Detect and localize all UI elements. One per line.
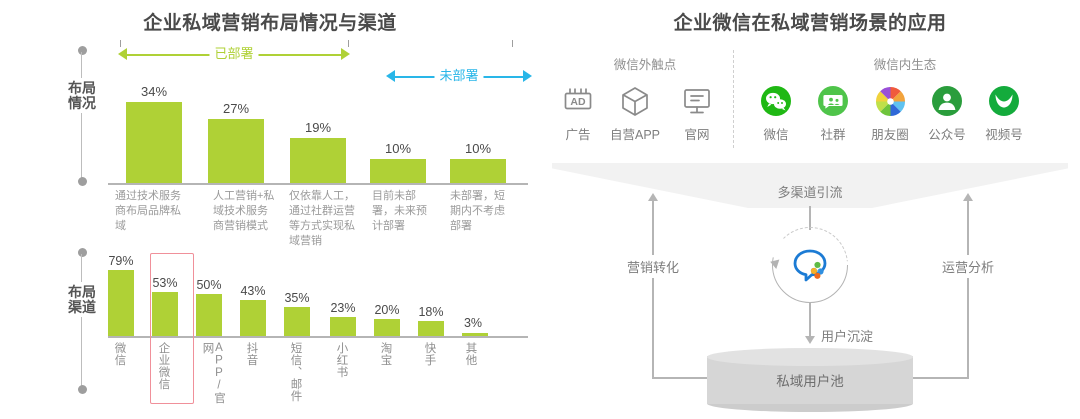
chart-baseline [108, 336, 528, 338]
chart-layout-status: 34% 27% 19% 10% 10% [108, 40, 528, 185]
left-panel-title: 企业私域营销布局情况与渠道 [0, 8, 540, 35]
bar-value-3: 43% [236, 284, 270, 298]
category-label-8: 其他 [464, 342, 476, 380]
category-label-6: 淘宝 [379, 342, 391, 380]
icon-label: 官网 [669, 124, 725, 143]
group-divider [733, 50, 734, 148]
icon-label: 朋友圈 [862, 124, 918, 143]
infographic-root: 企业私域营销布局情况与渠道 布局情况 布局渠道 已部署 未部署 [0, 0, 1080, 419]
private-user-pool: 私域用户池 [707, 348, 913, 411]
icon-cell-wechat[interactable]: 微信 [748, 82, 804, 143]
ad-billboard-icon: AD [550, 82, 606, 120]
right-flow-label: 运营分析 [939, 255, 997, 278]
connector-left-vertical [652, 200, 654, 378]
bar-7 [418, 321, 444, 336]
bar-value-4: 10% [450, 141, 506, 156]
connector-center-to-pool [809, 302, 811, 338]
center-cycle [772, 227, 848, 303]
icon-cell-self-app[interactable]: 自营APP [607, 82, 663, 143]
group-heading-outer: 微信外触点 [560, 54, 730, 73]
left-flow-label: 营销转化 [624, 255, 682, 278]
left-panel: 企业私域营销布局情况与渠道 布局情况 布局渠道 已部署 未部署 [0, 0, 540, 419]
category-label-0: 微信 [113, 342, 125, 380]
category-label-3: 抖音 [245, 342, 257, 380]
category-label-1: 人工营销+私域技术服务商营销模式 [213, 189, 275, 234]
rail-cap-top [78, 248, 87, 257]
bar-4 [450, 159, 506, 183]
icon-cell-official-account[interactable]: 公众号 [919, 82, 975, 143]
svg-text:AD: AD [570, 96, 586, 108]
bar-3 [240, 300, 266, 336]
bar-6 [374, 319, 400, 336]
bar-3 [370, 159, 426, 183]
bar-value-2: 19% [290, 120, 346, 135]
rail-label-layout-status: 布局情况 [68, 78, 96, 113]
bar-value-7: 18% [414, 305, 448, 319]
rail-layout-channel: 布局渠道 [72, 248, 92, 394]
category-label-0: 通过技术服务商布局品牌私域 [115, 189, 189, 234]
pool-label: 私域用户池 [707, 370, 913, 390]
chart-baseline [108, 183, 528, 185]
category-label-4: 未部署，短期内不考虑部署 [450, 189, 512, 234]
rail-cap-top [78, 46, 87, 55]
category-label-2: 仅依靠人工，通过社群运营等方式实现私域营销 [289, 189, 365, 248]
arrow-up-icon-right [963, 193, 973, 201]
category-label-7: 快手 [423, 342, 435, 380]
bar-0 [126, 102, 182, 183]
icon-label: 视频号 [976, 124, 1032, 143]
icon-cell-ad[interactable]: AD 广告 [550, 82, 606, 143]
right-panel: 企业微信在私域营销场景的应用 微信外触点 微信内生态 AD 广告 [540, 0, 1080, 419]
rail-label-layout-channel: 布局渠道 [68, 282, 96, 317]
bar-2 [196, 294, 222, 336]
bar-value-5: 23% [326, 301, 360, 315]
bar-2 [290, 138, 346, 183]
icon-cell-website[interactable]: 官网 [669, 82, 725, 143]
category-label-4: 短信、邮件 [289, 342, 301, 404]
official-account-icon [919, 82, 975, 120]
connector-right-horizontal [911, 377, 969, 379]
bar-value-1: 53% [148, 276, 182, 290]
arrow-down-icon [805, 336, 815, 344]
bar-5 [330, 317, 356, 336]
center-flow-label: 用户沉淀 [818, 324, 876, 347]
bar-value-8: 3% [456, 316, 490, 330]
bar-1 [152, 292, 178, 336]
rail-layout-status: 布局情况 [72, 46, 92, 186]
pool-top [707, 348, 913, 366]
rail-cap-bottom [78, 385, 87, 394]
category-label-2: APP/官网 [201, 342, 224, 414]
channels-video-icon [976, 82, 1032, 120]
wework-logo-icon [786, 241, 834, 289]
bar-1 [208, 119, 264, 183]
axis-tick [120, 40, 121, 47]
icon-label: 自营APP [607, 124, 663, 143]
category-label-1: 企业微信 [157, 342, 169, 402]
bar-value-2: 50% [192, 278, 226, 292]
rail-line [81, 52, 82, 180]
axis-tick [512, 40, 513, 47]
bar-value-0: 34% [126, 84, 182, 99]
rail-cap-bottom [78, 177, 87, 186]
rail-line [81, 254, 82, 388]
cube-box-icon [607, 82, 663, 120]
wechat-icon [748, 82, 804, 120]
funnel-label: 多渠道引流 [540, 182, 1080, 201]
connector-left-horizontal [652, 377, 710, 379]
bar-value-3: 10% [370, 141, 426, 156]
bar-4 [284, 307, 310, 336]
icon-label: 公众号 [919, 124, 975, 143]
bar-0 [108, 270, 134, 336]
wechat-group-icon [805, 82, 861, 120]
arrow-up-icon-left [648, 193, 658, 201]
right-panel-title: 企业微信在私域营销场景的应用 [540, 8, 1080, 35]
category-label-5: 小红书 [335, 342, 347, 392]
bar-value-1: 27% [208, 101, 264, 116]
bar-value-6: 20% [370, 303, 404, 317]
group-heading-inner: 微信内生态 [745, 54, 1065, 73]
axis-tick [348, 40, 349, 47]
icon-label: 广告 [550, 124, 606, 143]
icon-label: 微信 [748, 124, 804, 143]
bar-value-0: 79% [104, 254, 138, 268]
bar-8 [462, 333, 488, 336]
moments-icon [862, 82, 918, 120]
chart-layout-channel: 79% 53% 50% 43% 35% 23% 20% 18% 3% [108, 252, 528, 338]
bar-value-4: 35% [280, 291, 314, 305]
monitor-website-icon [669, 82, 725, 120]
category-label-3: 目前未部署，未来预计部署 [372, 189, 434, 234]
connector-right-vertical [967, 200, 969, 378]
icon-cell-moments[interactable]: 朋友圈 [862, 82, 918, 143]
icon-label: 社群 [805, 124, 861, 143]
icon-cell-channels[interactable]: 视频号 [976, 82, 1032, 143]
icon-cell-community[interactable]: 社群 [805, 82, 861, 143]
axis-top-ticks [108, 40, 528, 48]
